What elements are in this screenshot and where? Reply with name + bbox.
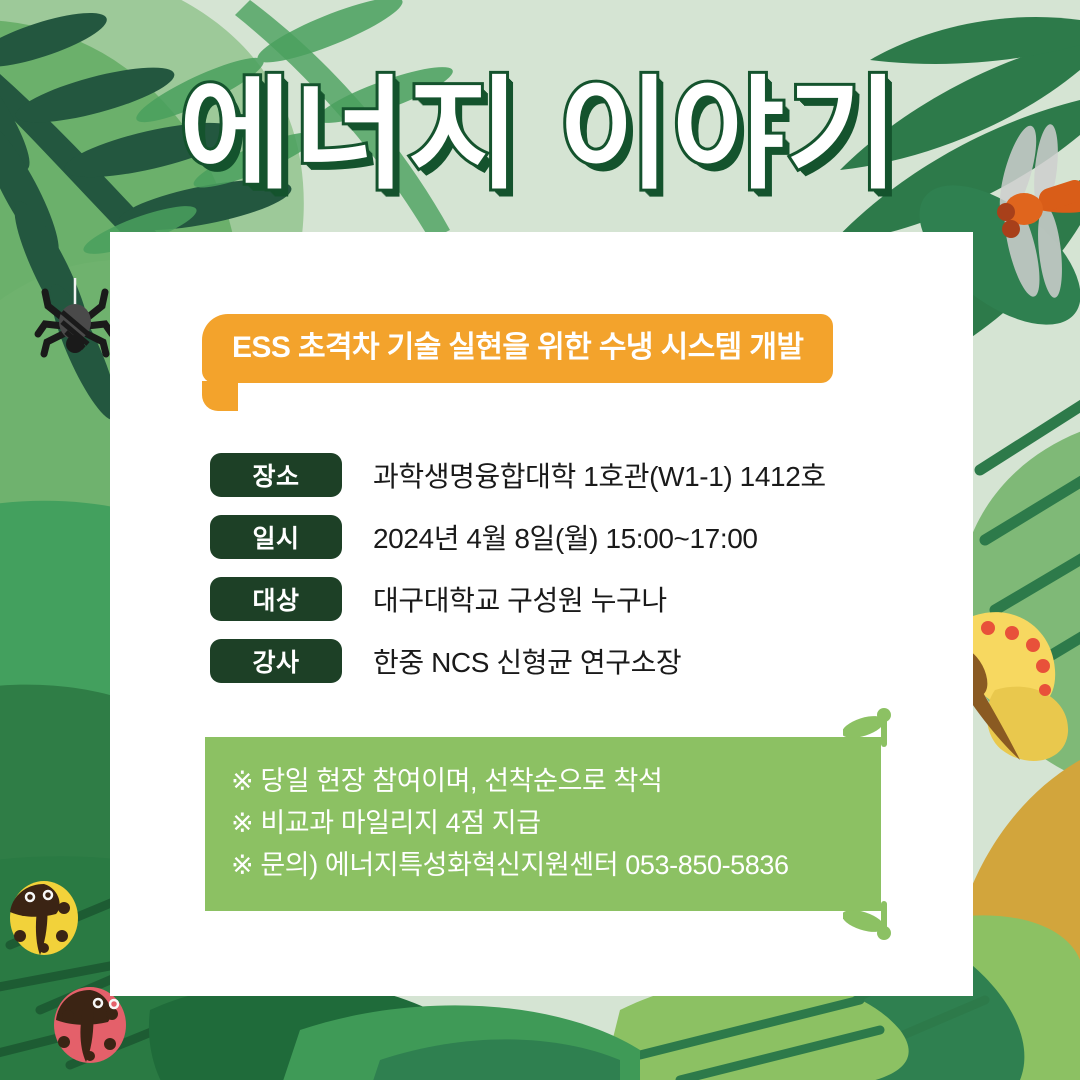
session-banner-tail — [202, 381, 238, 411]
table-row: 장소 과학생명융합대학 1호관(W1-1) 1412호 — [210, 444, 826, 506]
notes-box: ※ 당일 현장 참여이며, 선착순으로 착석 ※ 비교과 마일리지 4점 지급 … — [205, 737, 881, 911]
detail-value-speaker: 한중 NCS 신형균 연구소장 — [373, 641, 681, 681]
table-row: 일시 2024년 4월 8일(월) 15:00~17:00 — [210, 506, 826, 568]
detail-value-datetime: 2024년 4월 8일(월) 15:00~17:00 — [373, 517, 758, 557]
ladybug-yellow-icon — [10, 881, 78, 955]
content-card: ESS 초격차 기술 실현을 위한 수냉 시스템 개발 장소 과학생명융합대학 … — [110, 232, 973, 996]
ladybug-red-icon — [54, 987, 126, 1063]
session-banner-text: ESS 초격차 기술 실현을 위한 수냉 시스템 개발 — [232, 333, 803, 363]
session-banner: ESS 초격차 기술 실현을 위한 수냉 시스템 개발 — [202, 314, 833, 383]
detail-label-audience: 대상 — [210, 577, 342, 621]
note-line: ※ 비교과 마일리지 4점 지급 — [231, 802, 855, 844]
sprout-leaf-icon — [843, 707, 903, 751]
note-line: ※ 문의) 에너지특성화혁신지원센터 053-850-5836 — [231, 844, 855, 886]
event-details-list: 장소 과학생명융합대학 1호관(W1-1) 1412호 일시 2024년 4월 … — [210, 444, 826, 692]
note-line: ※ 당일 현장 참여이며, 선착순으로 착석 — [231, 760, 855, 802]
detail-label-location: 장소 — [210, 453, 342, 497]
table-row: 강사 한중 NCS 신형균 연구소장 — [210, 630, 826, 692]
detail-label-speaker: 강사 — [210, 639, 342, 683]
detail-value-audience: 대구대학교 구성원 누구나 — [373, 579, 667, 619]
detail-label-datetime: 일시 — [210, 515, 342, 559]
poster-canvas: 에너지 이야기 ESS 초격차 기술 실현을 위한 수냉 시스템 개발 장소 과… — [0, 0, 1080, 1080]
session-banner-body: ESS 초격차 기술 실현을 위한 수냉 시스템 개발 — [202, 314, 833, 383]
detail-value-location: 과학생명융합대학 1호관(W1-1) 1412호 — [373, 455, 826, 495]
notes-section: ※ 당일 현장 참여이며, 선착순으로 착석 ※ 비교과 마일리지 4점 지급 … — [205, 737, 881, 911]
sprout-leaf-icon — [843, 897, 903, 941]
table-row: 대상 대구대학교 구성원 누구나 — [210, 568, 826, 630]
